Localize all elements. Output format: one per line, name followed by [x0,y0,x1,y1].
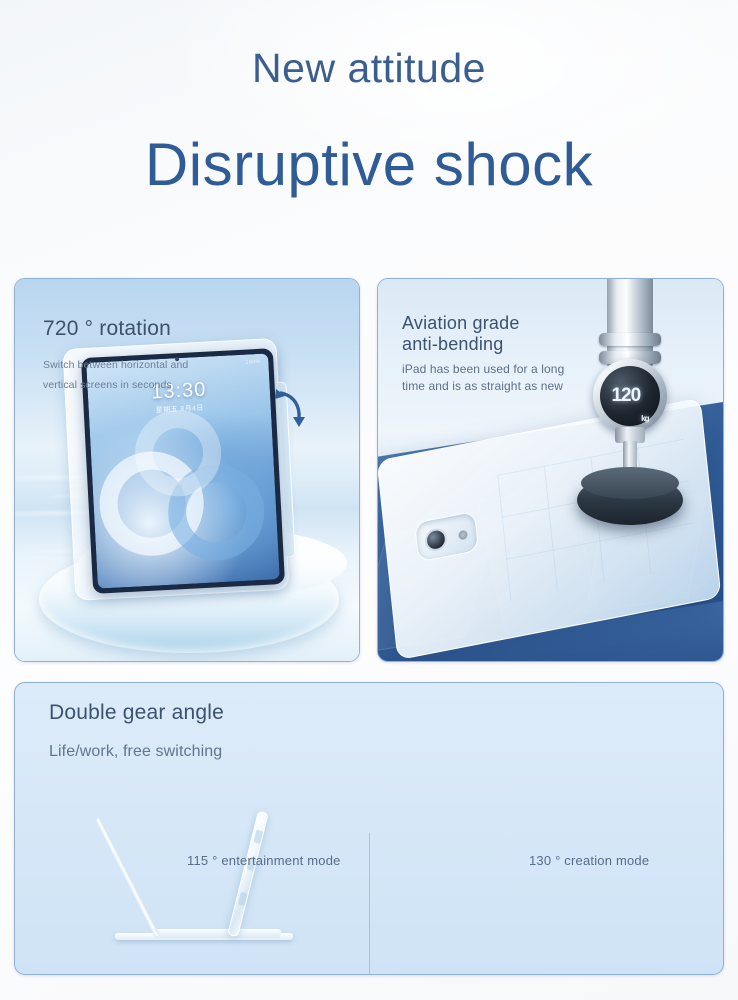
gear-mode-entertainment: 115 ° entertainment mode [15,805,369,974]
antibending-card-title: Aviation grade anti-bending [402,313,564,355]
antibending-title-line-1: Aviation grade [402,313,564,334]
gear-mode-label-creation: 130 ° creation mode [529,853,649,868]
gear-card-subtitle: Life/work, free switching [49,743,224,761]
force-gauge-display: 120 kg [600,366,660,426]
gear-card-text: Double gear angle Life/work, free switch… [49,701,224,761]
press-base [577,475,683,525]
stand-slab [153,929,281,938]
product-feature-page: New attitude Disruptive shock [0,0,738,1000]
force-gauge-value: 120 [611,385,640,407]
camera-lens-icon [424,527,448,553]
gear-mode-creation: 130 ° creation mode [369,805,723,974]
stand-kickstand-leg [95,817,159,937]
rotation-arrow-icon [269,383,311,429]
stand-notch [253,830,263,844]
antibending-subtitle-line-2: time and is as straight as new [402,378,564,394]
tablet-side-profile [227,810,269,937]
gear-card-title: Double gear angle [49,701,224,725]
rotation-card-subtitle: Switch between horizontal and vertical s… [43,356,188,396]
force-gauge: 120 kg [593,359,667,433]
feature-card-row: 100% 13:30 星期五 8月4日 720 ° rotation [14,278,724,662]
camera-flash-icon [458,530,468,541]
antibending-subtitle-line-1: iPad has been used for a long [402,361,564,377]
press-base-top [581,467,679,499]
rotation-subtitle-line-2: vertical screens in seconds [43,376,188,396]
antibending-card-subtitle: iPad has been used for a long time and i… [402,361,564,393]
screen-status-text: 100% [245,359,260,366]
feature-card-antibending[interactable]: 120 kg Aviation grade anti-bending [377,278,724,662]
camera-cutout [414,511,479,563]
gear-mode-label-entertainment: 115 ° entertainment mode [187,853,341,868]
feature-card-rotation[interactable]: 100% 13:30 星期五 8月4日 720 ° rotation [14,278,360,662]
rotation-card-title: 720 ° rotation [43,317,188,342]
press-ring [599,333,661,346]
stand-notch [238,892,248,906]
rotation-card-text: 720 ° rotation Switch between horizontal… [43,317,188,396]
rotation-subtitle-line-1: Switch between horizontal and [43,356,188,376]
force-gauge-unit: kg [641,414,648,423]
press-testing-machine: 120 kg [581,278,679,545]
page-title-sub: Disruptive shock [0,133,738,196]
headings-block: New attitude Disruptive shock [0,0,738,196]
feature-card-gear-angle[interactable]: Double gear angle Life/work, free switch… [14,682,724,975]
gear-modes-area: 115 ° entertainment mode 130 ° creation … [15,805,723,974]
page-title-main: New attitude [0,46,738,91]
antibending-card-text: Aviation grade anti-bending iPad has bee… [402,313,564,394]
antibending-title-line-2: anti-bending [402,334,564,355]
